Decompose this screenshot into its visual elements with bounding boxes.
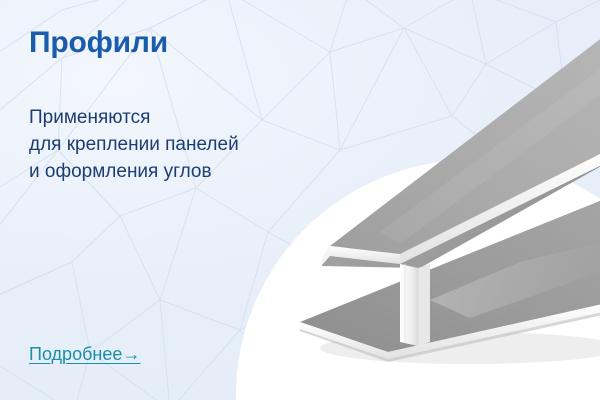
text-content: Профили Применяются для креплении панеле… <box>29 0 329 400</box>
promo-banner: Профили Применяются для креплении панеле… <box>0 0 600 400</box>
subtitle-line-3: и оформления углов <box>29 158 239 185</box>
subtitle-text: Применяются для креплении панелей и офор… <box>29 104 239 185</box>
subtitle-line-1: Применяются <box>29 104 239 131</box>
subtitle-line-2: для креплении панелей <box>29 131 239 158</box>
page-title: Профили <box>29 26 168 60</box>
more-details-link[interactable]: Подробнее→ <box>29 343 140 365</box>
